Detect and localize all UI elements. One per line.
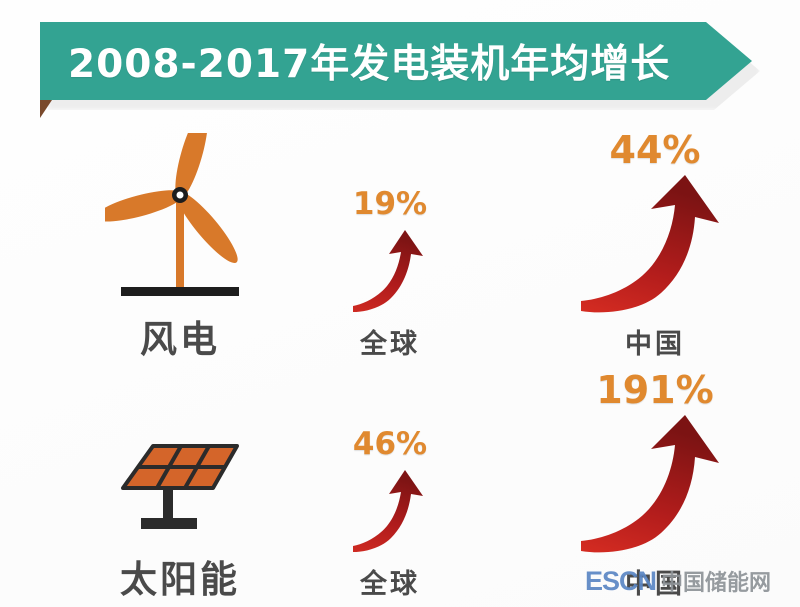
up-arrow-icon <box>575 413 735 563</box>
solar-china-cell: 191% 中国 <box>530 358 780 598</box>
wind-global-percent: 19% <box>353 189 427 220</box>
wind-turbine-icon <box>105 133 255 313</box>
up-arrow-icon <box>343 224 438 321</box>
up-arrow-icon <box>343 464 438 561</box>
infographic-root: 2008-2017年发电装机年均增长 <box>0 0 800 607</box>
solar-panel-icon <box>105 426 255 551</box>
wind-source-cell: 风电 <box>70 118 290 358</box>
solar-source-cell: 太阳能 <box>70 358 290 598</box>
wind-china-percent: 44% <box>610 131 701 169</box>
wind-global-label: 全球 <box>360 331 420 358</box>
row-solar: 太阳能 46% <box>0 358 800 598</box>
header-banner: 2008-2017年发电装机年均增长 <box>40 22 760 102</box>
wind-source-label: 风电 <box>140 321 220 358</box>
banner-fold-corner <box>40 100 52 118</box>
solar-global-label: 全球 <box>360 571 420 598</box>
up-arrow-icon <box>575 173 735 323</box>
solar-source-label: 太阳能 <box>120 561 240 598</box>
banner-shape: 2008-2017年发电装机年均增长 <box>40 22 752 100</box>
solar-china-label: 中国 <box>625 571 685 598</box>
solar-global-percent: 46% <box>353 429 427 460</box>
row-wind: 风电 19% <box>0 118 800 358</box>
page-title: 2008-2017年发电装机年均增长 <box>40 33 670 89</box>
wind-china-cell: 44% 中国 <box>530 118 780 358</box>
wind-global-cell: 19% 全球 <box>300 118 480 358</box>
solar-china-percent: 191% <box>596 371 713 409</box>
wind-china-label: 中国 <box>625 331 685 358</box>
solar-global-cell: 46% 全球 <box>300 358 480 598</box>
